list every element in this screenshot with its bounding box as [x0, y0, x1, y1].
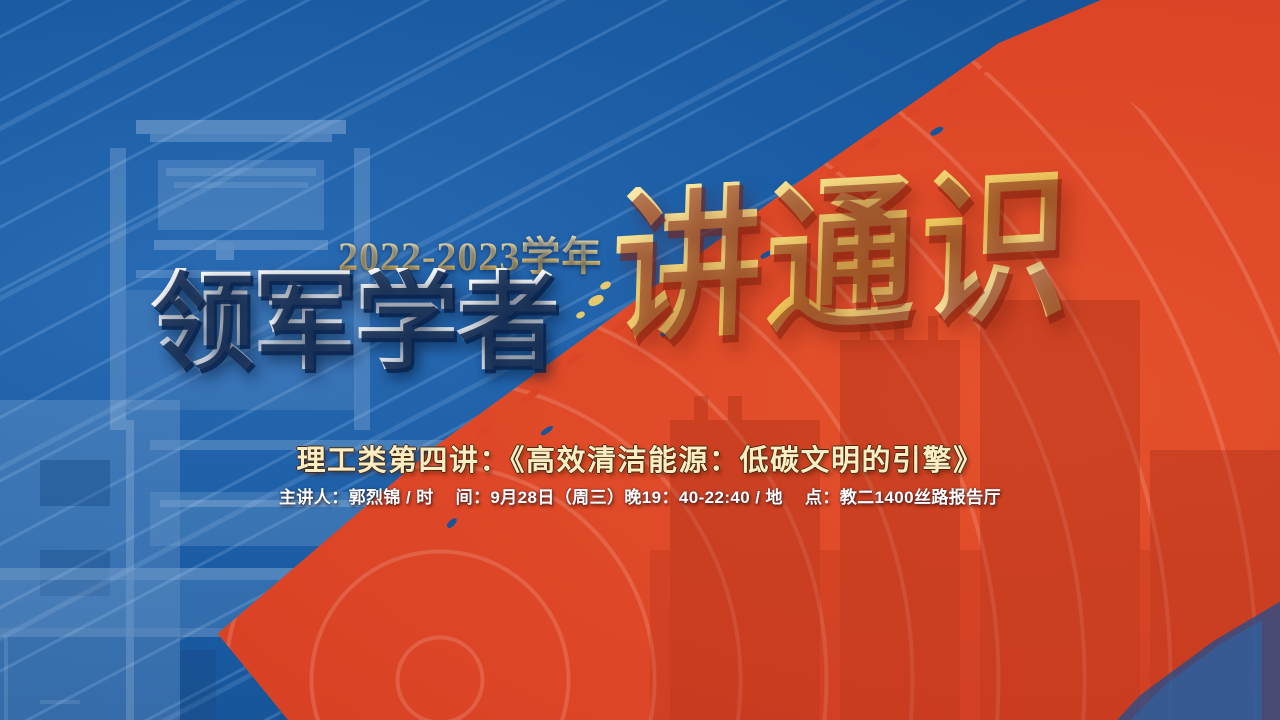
meta-separator-1: /: [406, 488, 411, 507]
time-label: 时: [416, 488, 433, 507]
place-value: 教二1400丝路报告厅: [840, 488, 1001, 507]
time-label-suffix: 间：: [456, 488, 491, 507]
gold-fleck-icon: [587, 293, 605, 308]
poster-text-content: 2022-2023学年 领军学者 讲通识 理工类第四讲：《高效清洁能源：低碳文明…: [0, 0, 1280, 720]
lecture-meta-line: 主讲人：郭烈锦 / 时间：9月28日（周三）晚19：40-22:40 / 地点：…: [0, 483, 1280, 508]
poster-canvas: 2022-2023学年 领军学者 讲通识 理工类第四讲：《高效清洁能源：低碳文明…: [0, 0, 1280, 720]
speaker-name: 郭烈锦: [349, 488, 401, 507]
place-label-suffix: 点：: [805, 488, 840, 507]
speaker-label: 主讲人：: [279, 488, 349, 507]
meta-separator-2: /: [755, 488, 760, 507]
lecture-title: 理工类第四讲：《高效清洁能源：低碳文明的引擎》: [0, 437, 1280, 479]
brush-calligraphy-title: 讲通识: [609, 162, 1075, 353]
place-label: 地: [766, 488, 783, 507]
series-name-heading: 领军学者: [150, 268, 558, 376]
gold-fleck-icon: [575, 310, 586, 319]
time-value: 9月28日（周三）晚19：40-22:40: [490, 488, 750, 507]
